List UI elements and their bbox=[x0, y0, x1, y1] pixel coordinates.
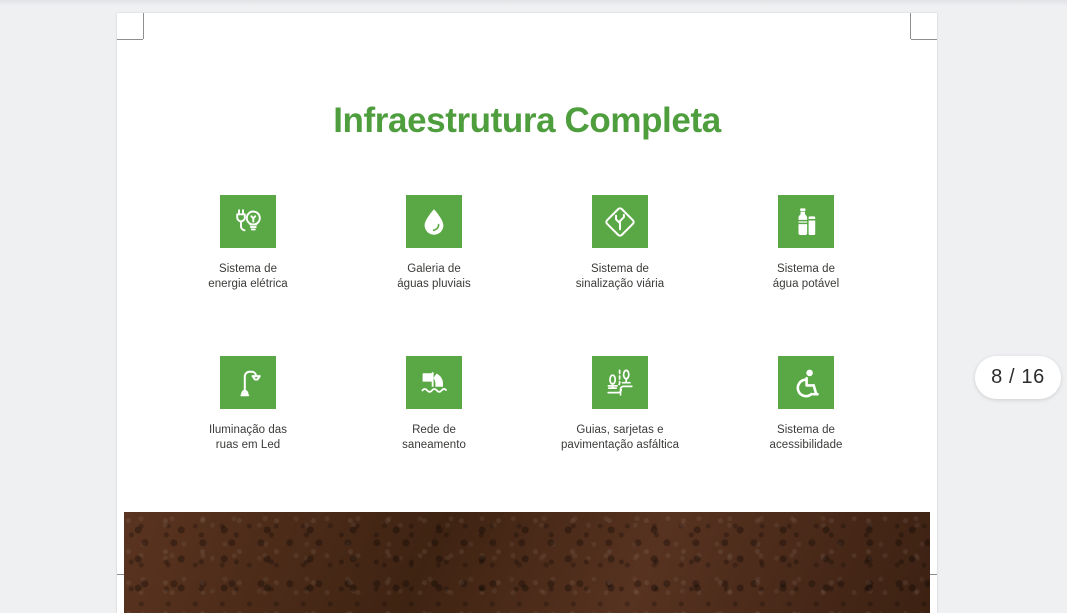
page-indicator[interactable]: 8 / 16 bbox=[975, 356, 1061, 399]
feature-item-saneamento[interactable]: Rede de saneamento bbox=[341, 356, 527, 453]
curb-sidewalk-trees-icon bbox=[592, 356, 648, 409]
street-lamp-icon bbox=[220, 356, 276, 409]
feature-item-guias-pavimentacao[interactable]: Guias, sarjetas e pavimentação asfáltica bbox=[527, 356, 713, 453]
feature-label: Sistema de energia elétrica bbox=[208, 262, 287, 292]
feature-item-iluminacao-led[interactable]: Iluminação das ruas em Led bbox=[155, 356, 341, 453]
feature-item-energia-eletrica[interactable]: Sistema de energia elétrica bbox=[155, 195, 341, 292]
feature-label: Rede de saneamento bbox=[402, 423, 466, 453]
sewage-outfall-icon bbox=[406, 356, 462, 409]
feature-label: Sistema de água potável bbox=[773, 262, 839, 292]
feature-label: Sistema de sinalização viária bbox=[576, 262, 664, 292]
water-droplet-icon bbox=[406, 195, 462, 248]
viewer-top-shade bbox=[0, 0, 1067, 6]
soil-photo-band bbox=[124, 512, 930, 613]
feature-label: Sistema de acessibilidade bbox=[770, 423, 843, 453]
feature-item-agua-potavel[interactable]: Sistema de água potável bbox=[713, 195, 899, 292]
feature-label: Iluminação das ruas em Led bbox=[209, 423, 287, 453]
feature-label: Galeria de águas pluviais bbox=[397, 262, 471, 292]
feature-item-acessibilidade[interactable]: Sistema de acessibilidade bbox=[713, 356, 899, 453]
feature-row: Iluminação das ruas em Led bbox=[155, 356, 899, 453]
road-sign-junction-icon bbox=[592, 195, 648, 248]
slide-page[interactable]: Infraestrutura Completa Sist bbox=[117, 13, 937, 613]
feature-label: Guias, sarjetas e pavimentação asfáltica bbox=[561, 423, 679, 453]
feature-grid: Sistema de energia elétrica Galeria de á… bbox=[155, 195, 899, 453]
wheelchair-accessibility-icon bbox=[778, 356, 834, 409]
water-bottle-glass-icon bbox=[778, 195, 834, 248]
feature-item-sinalizacao-viaria[interactable]: Sistema de sinalização viária bbox=[527, 195, 713, 292]
feature-item-aguas-pluviais[interactable]: Galeria de águas pluviais bbox=[341, 195, 527, 292]
document-viewer[interactable]: Infraestrutura Completa Sist bbox=[0, 0, 1067, 600]
slide-title: Infraestrutura Completa bbox=[117, 101, 937, 141]
feature-row: Sistema de energia elétrica Galeria de á… bbox=[155, 195, 899, 292]
plug-lightbulb-icon bbox=[220, 195, 276, 248]
